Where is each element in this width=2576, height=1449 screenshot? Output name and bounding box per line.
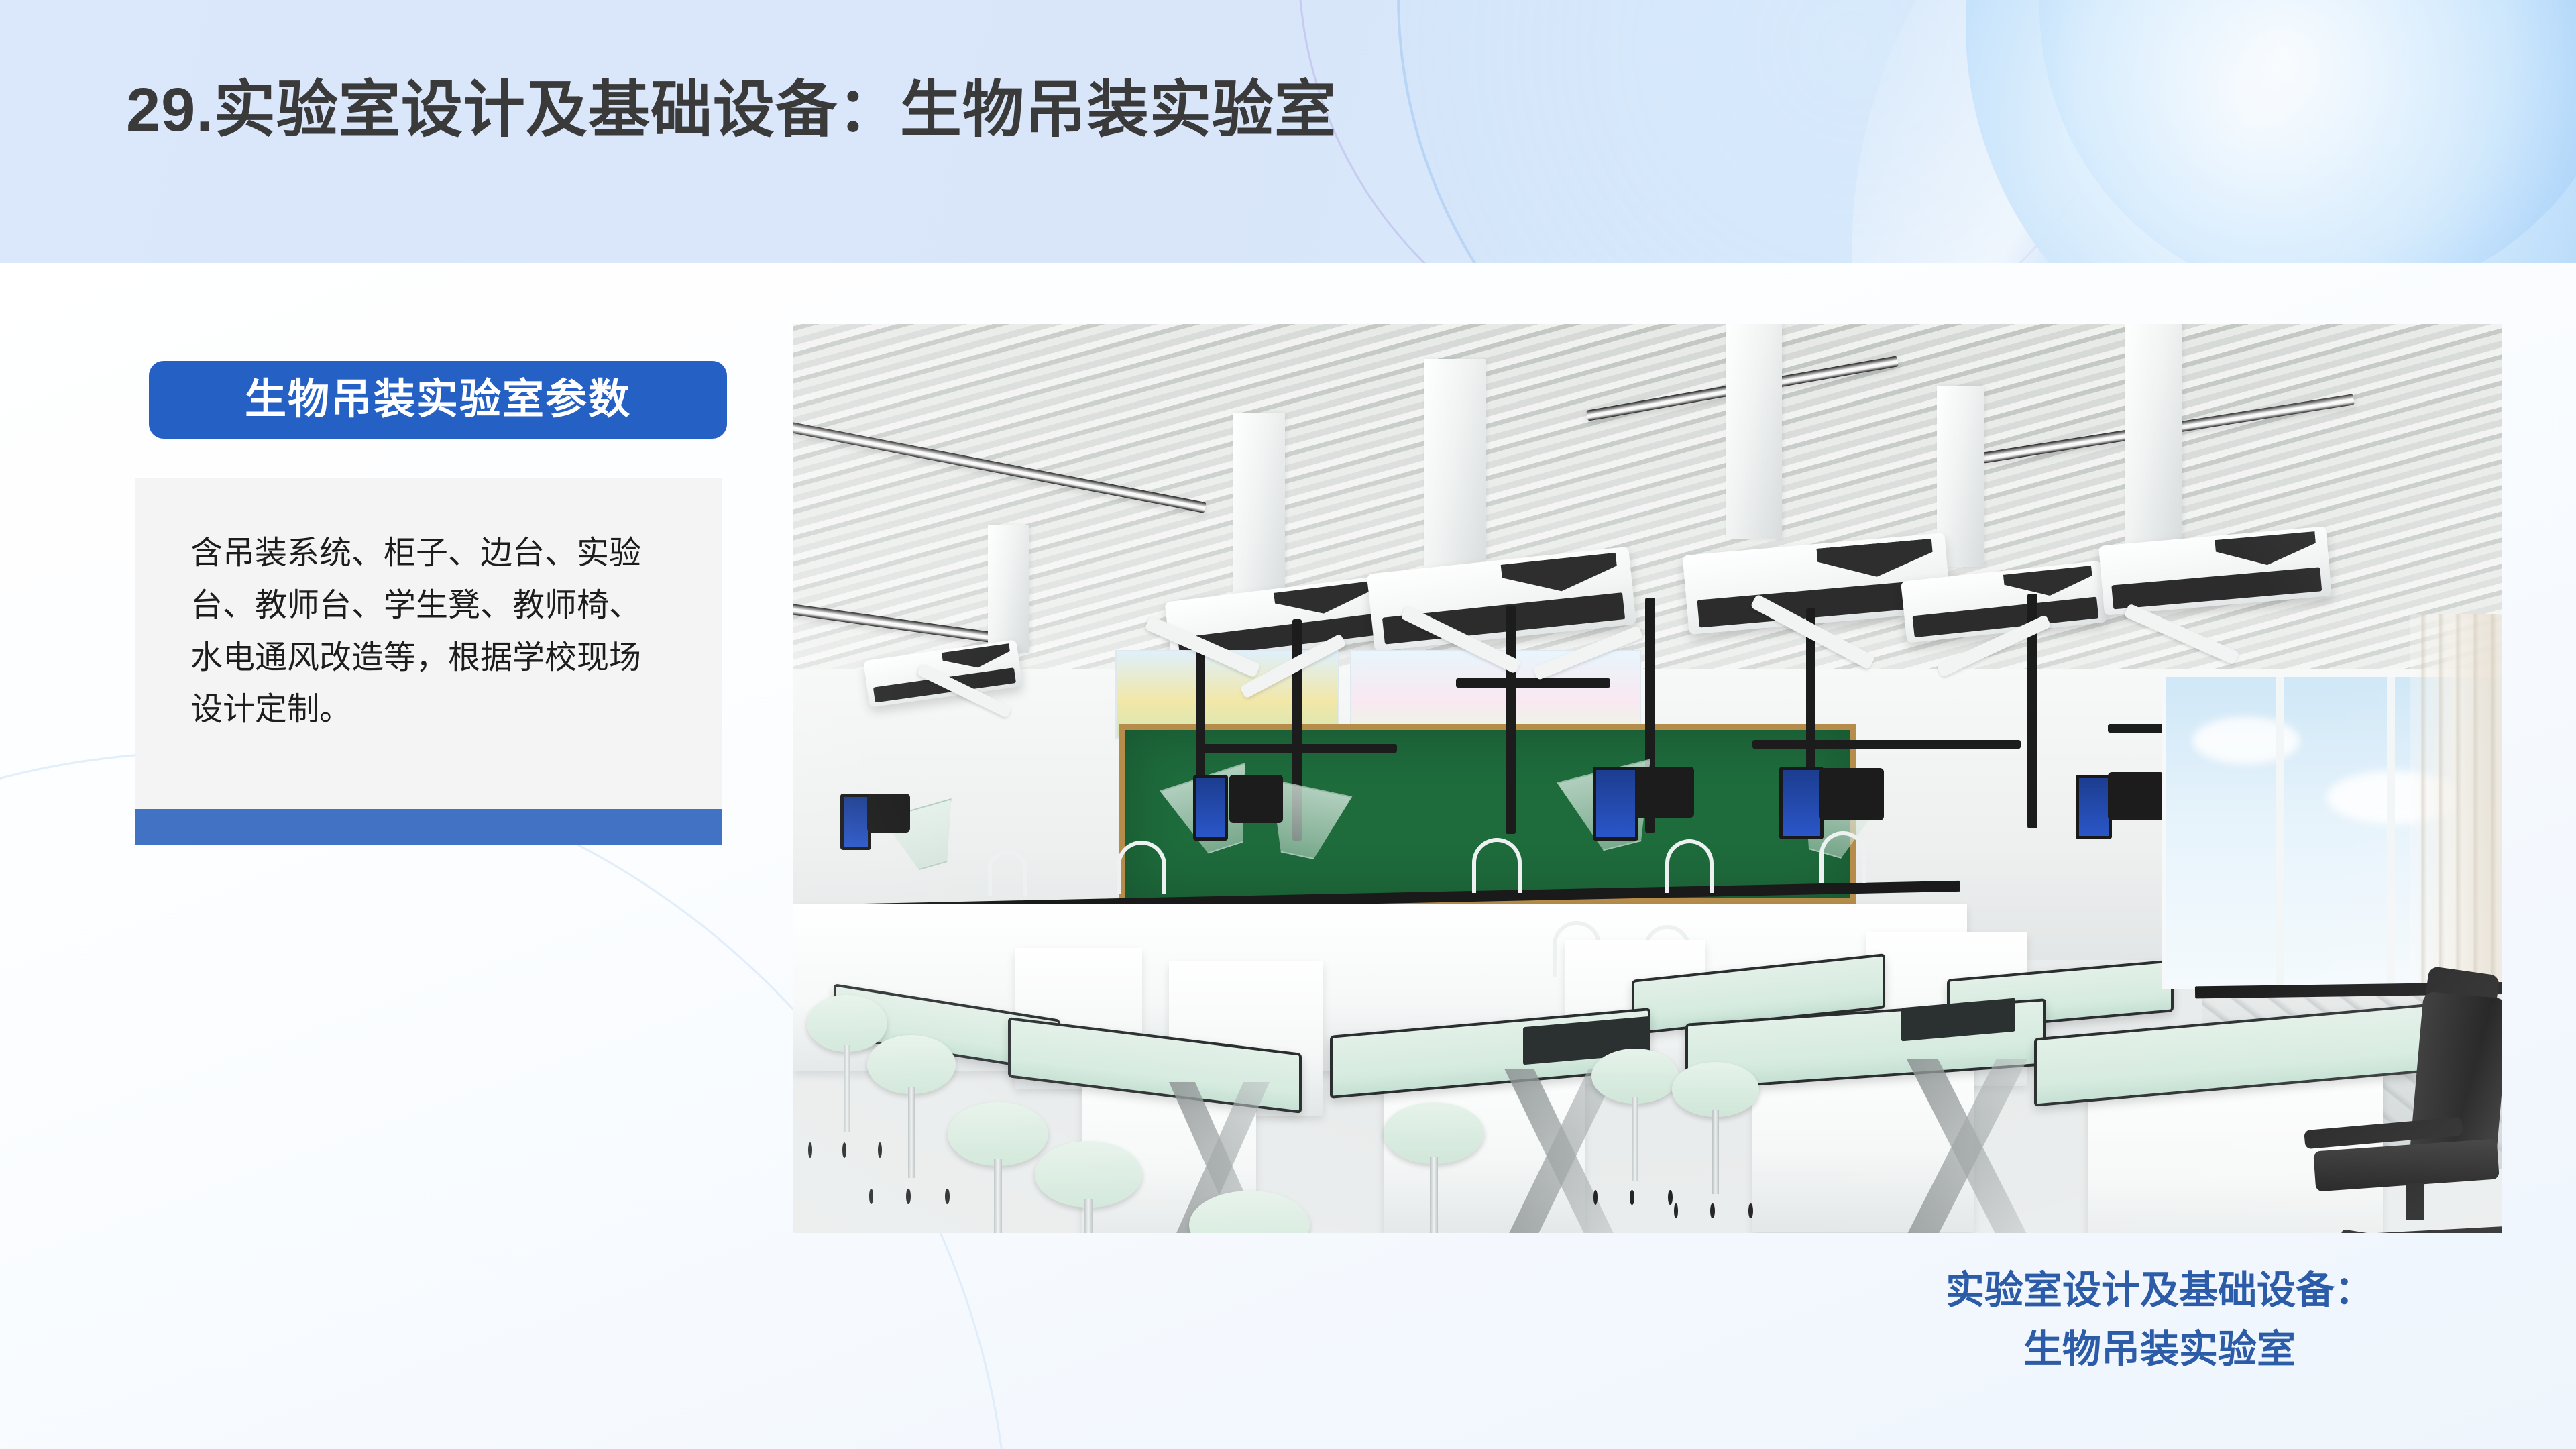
hanging-arm-module: [1229, 775, 1283, 823]
gooseneck-tap: [1472, 838, 1522, 893]
hanging-arm-post: [1506, 606, 1516, 834]
ceiling-service-duct: [1233, 413, 1285, 614]
stool-caster: [869, 1189, 874, 1204]
stool-caster: [1630, 1190, 1634, 1205]
slide-header-band: 29.实验室设计及基础设备：生物吊装实验室: [0, 0, 2576, 263]
stool-seat: [867, 1035, 956, 1094]
laboratory-render-photo: [793, 324, 2502, 1233]
pod-brand-badge-icon: [1816, 539, 1934, 582]
hanging-arm-module: [2108, 772, 2164, 820]
stool-seat: [1384, 1102, 1484, 1164]
parameter-card-header-pill: 生物吊装实验室参数: [149, 361, 727, 439]
stool-pole: [1430, 1157, 1438, 1233]
stool-caster: [808, 1142, 812, 1158]
stool-caster: [1748, 1203, 1753, 1218]
lab-stool: [1189, 1191, 1310, 1233]
parameter-card-footer-bar: [135, 809, 722, 845]
gooseneck-tap: [988, 850, 1027, 896]
photo-caption-line2: 生物吊装实验室: [1838, 1320, 2481, 1379]
stool-caster: [1593, 1190, 1598, 1205]
stool-seat: [1672, 1062, 1759, 1117]
ceiling-service-duct: [2125, 324, 2182, 545]
photo-caption-line1: 实验室设计及基础设备：: [1946, 1269, 2373, 1312]
pod-brand-badge-icon: [1274, 581, 1371, 619]
stool-caster: [842, 1142, 846, 1158]
ceiling-service-duct: [1726, 324, 1782, 539]
lab-stool: [1591, 1049, 1679, 1210]
parameter-card-title: 生物吊装实验室参数: [245, 379, 631, 421]
stool-pole: [994, 1159, 1002, 1233]
stool-pole: [1632, 1097, 1638, 1181]
bench-tablet-screen: [1193, 775, 1228, 841]
bench-tablet-screen: [1779, 767, 1824, 839]
lab-stool: [948, 1102, 1048, 1233]
window-mullion: [2276, 677, 2284, 985]
slide-root: 29.实验室设计及基础设备：生物吊装实验室 生物吊装实验室参数 含吊装系统、柜子…: [0, 0, 2576, 1449]
stool-pole: [1712, 1110, 1719, 1194]
gooseneck-tap: [1665, 839, 1714, 893]
stool-pole: [908, 1087, 915, 1178]
hanging-arm-module: [1635, 767, 1694, 818]
hanging-arm-crossbar: [1456, 678, 1610, 688]
stool-pole: [1084, 1199, 1093, 1233]
ceiling-service-duct: [1424, 359, 1486, 594]
gooseneck-tap: [1117, 841, 1166, 894]
pod-brand-badge-icon: [1501, 553, 1620, 597]
pod-brand-badge-icon: [2003, 566, 2094, 600]
stool-caster: [906, 1189, 911, 1204]
photo-caption: 实验室设计及基础设备： 生物吊装实验室: [1838, 1261, 2481, 1379]
lab-stool: [1672, 1062, 1759, 1223]
chair-gas-lift: [2406, 1183, 2424, 1220]
hanging-arm-module: [867, 794, 910, 833]
hanging-arm-crossbar: [1196, 744, 1397, 753]
gooseneck-tap: [1819, 831, 1866, 883]
hanging-arm-module: [1819, 768, 1884, 820]
parameter-card-description: 含吊装系统、柜子、边台、实验 台、教师台、学生凳、教师椅、 水电通风改造等，根据…: [190, 527, 727, 736]
stool-seat: [1189, 1191, 1310, 1233]
ceiling-service-duct: [988, 525, 1029, 653]
pod-brand-badge-icon: [2215, 531, 2317, 570]
office-chair: [2299, 995, 2502, 1233]
lab-stool: [867, 1035, 956, 1210]
stool-seat: [1035, 1141, 1142, 1207]
window-mullion: [2387, 677, 2395, 985]
stool-caster: [1710, 1203, 1715, 1218]
stool-pole: [844, 1045, 850, 1132]
page-title: 29.实验室设计及基础设备：生物吊装实验室: [126, 79, 1337, 141]
bench-tablet-screen: [1593, 767, 1638, 841]
stool-caster: [1674, 1203, 1679, 1218]
stool-seat: [1591, 1049, 1679, 1104]
lab-stool: [1384, 1102, 1484, 1233]
stool-seat: [948, 1102, 1048, 1166]
lab-stool: [1035, 1141, 1142, 1233]
bench-tablet-screen: [2076, 775, 2112, 839]
hanging-arm-crossbar: [1752, 740, 2021, 749]
